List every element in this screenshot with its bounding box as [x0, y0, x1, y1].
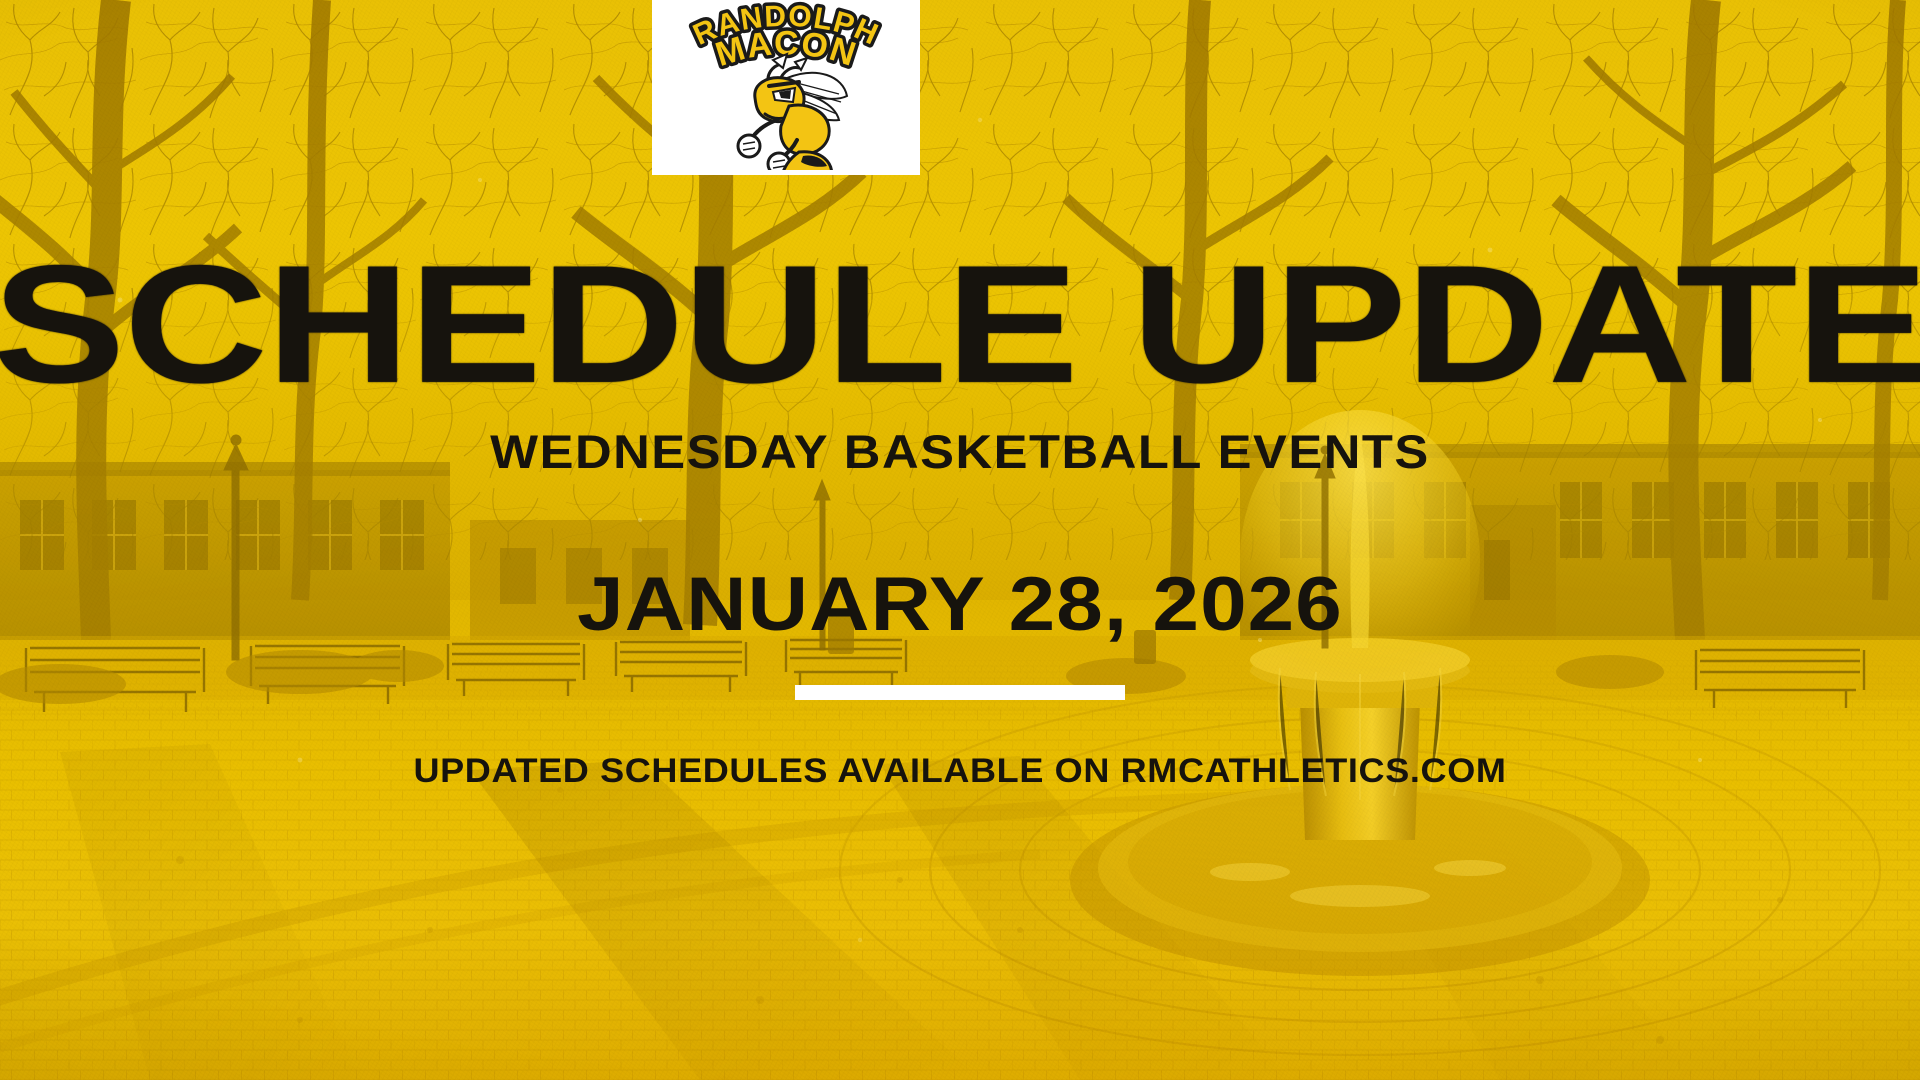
- event-date: JANUARY 28, 2026: [0, 561, 1920, 648]
- white-divider-bar: [795, 685, 1125, 700]
- poster-text-content: SCHEDULE UPDATE WEDNESDAY BASKETBALL EVE…: [0, 0, 1920, 1080]
- schedule-update-poster: RANDOLPH RANDOLPH MACON MACON: [0, 0, 1920, 1080]
- poster-subtitle: WEDNESDAY BASKETBALL EVENTS: [0, 424, 1920, 479]
- page-title: SCHEDULE UPDATE: [0, 243, 1920, 407]
- footnote-website-note: UPDATED SCHEDULES AVAILABLE ON RMCATHLET…: [0, 752, 1920, 791]
